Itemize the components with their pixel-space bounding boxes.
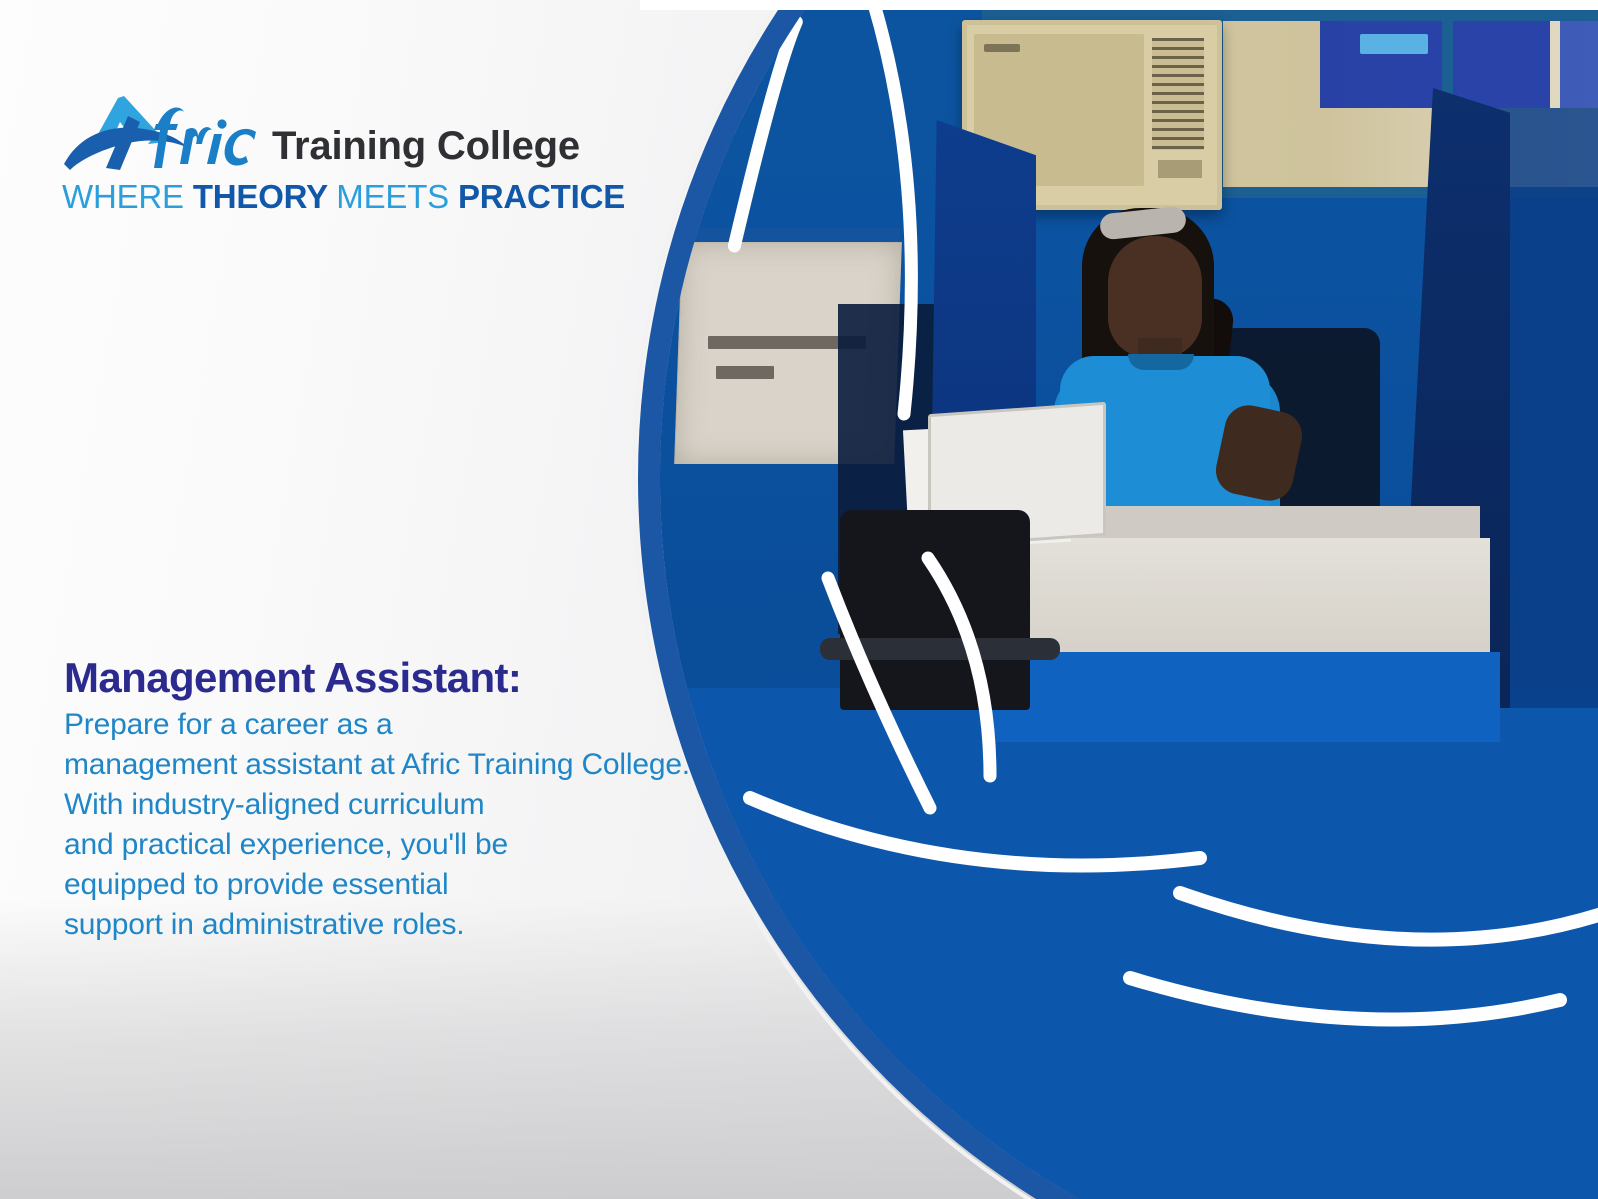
body-line-4: and practical experience, you'll be: [64, 825, 824, 865]
tagline-word-theory: THEORY: [193, 178, 328, 215]
afric-mountain-swoosh-logo: [62, 94, 258, 172]
office-photograph: [660, 0, 1598, 1199]
tagline-word-practice: PRACTICE: [458, 178, 625, 215]
college-name: Training College: [272, 126, 580, 172]
body-line-6: support in administrative roles.: [64, 905, 824, 945]
body-line-2: management assistant at Afric Training C…: [64, 745, 824, 785]
body-line-1: Prepare for a career as a: [64, 705, 824, 745]
marketing-poster: Training College WHERE THEORY MEETS PRAC…: [0, 0, 1598, 1199]
page-title: Management Assistant:: [64, 655, 824, 701]
tagline-word-meets: MEETS: [336, 178, 449, 215]
brand-lockup: Training College WHERE THEORY MEETS PRAC…: [62, 92, 642, 213]
body-paragraph: Prepare for a career as a management ass…: [64, 705, 824, 944]
decorative-strokes-group: [660, 0, 1598, 1199]
top-white-sliver: [640, 0, 1598, 10]
tagline-word-where: WHERE: [62, 178, 184, 215]
body-line-5: equipped to provide essential: [64, 865, 824, 905]
brand-tagline: WHERE THEORY MEETS PRACTICE: [62, 180, 642, 213]
photo-panel: [660, 0, 1598, 1199]
body-line-3: With industry-aligned curriculum: [64, 785, 824, 825]
copy-block: Management Assistant: Prepare for a care…: [64, 655, 824, 945]
